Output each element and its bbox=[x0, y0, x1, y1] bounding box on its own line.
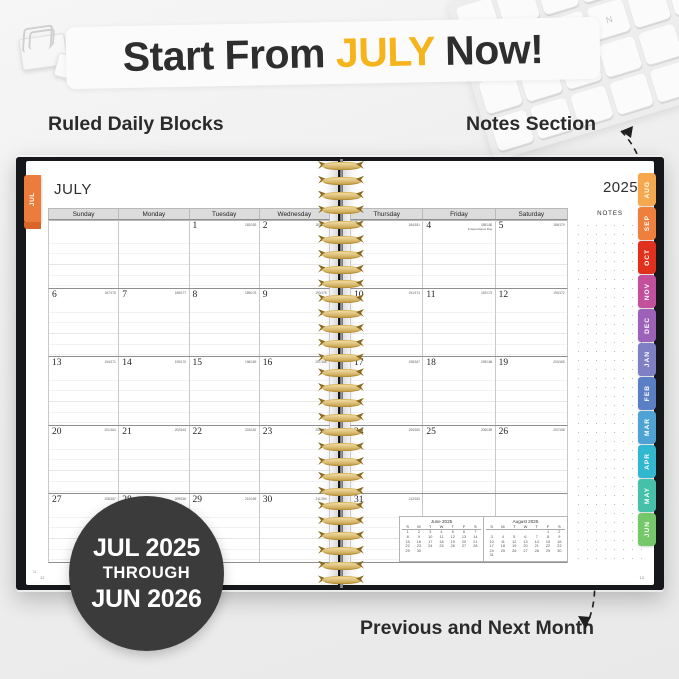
month-tab-label: DEC bbox=[644, 317, 651, 334]
caption-previous-next-month: Previous and Next Month bbox=[360, 617, 594, 640]
spiral-coil bbox=[317, 250, 365, 259]
week-row: 24205/16025206/15926207/158 bbox=[350, 426, 568, 495]
month-tab-jun[interactable]: JUN bbox=[638, 513, 656, 546]
keyboard-key bbox=[598, 35, 643, 78]
month-tab-aug[interactable]: AUG bbox=[638, 173, 656, 206]
day-number: 16 bbox=[263, 358, 273, 368]
day-number: 4 bbox=[426, 221, 431, 231]
day-of-year-count: 210/155 bbox=[245, 497, 256, 501]
spiral-coil bbox=[317, 487, 365, 496]
headline-highlight: JULY bbox=[335, 28, 434, 76]
page-number-left: 12 bbox=[40, 575, 44, 580]
day-cell-12[interactable]: 12193/172 bbox=[496, 289, 567, 357]
day-number: 5 bbox=[499, 221, 504, 231]
holiday-label: Independence Day bbox=[468, 227, 492, 231]
month-tab-label: APR bbox=[644, 453, 651, 470]
mini-calendar-june: June 2025SMTWTFS123456789101112131415161… bbox=[399, 516, 484, 562]
mini-calendar-august: August 2025SMTWTFS1234567891011121314151… bbox=[484, 516, 568, 562]
month-tab-label: SEP bbox=[644, 215, 651, 231]
day-number: 14 bbox=[122, 358, 132, 368]
day-of-year-count: 198/167 bbox=[409, 360, 420, 364]
day-cell-22[interactable]: 22203/162 bbox=[190, 426, 260, 494]
day-cell-1[interactable]: 1182/183 bbox=[190, 220, 260, 288]
day-of-year-count: 196/169 bbox=[245, 360, 256, 364]
spiral-binding bbox=[316, 155, 368, 592]
day-cell-7[interactable]: 7188/177 bbox=[119, 289, 189, 357]
mini-day-empty bbox=[447, 549, 458, 554]
month-tab-apr[interactable]: APR bbox=[638, 445, 656, 478]
day-number: 12 bbox=[499, 290, 509, 300]
day-of-year-count: 184/181 bbox=[409, 223, 420, 227]
day-cell-8[interactable]: 8189/176 bbox=[190, 289, 260, 357]
day-of-year-count: 188/177 bbox=[175, 291, 186, 295]
day-cell-5[interactable]: 5186/179 bbox=[496, 220, 567, 288]
day-cell-14[interactable]: 14195/170 bbox=[119, 357, 189, 425]
day-number: 1 bbox=[193, 221, 198, 231]
day-of-year-count: 201/164 bbox=[105, 428, 116, 432]
badge-line-1: JUL 2025 bbox=[93, 534, 200, 562]
spiral-coil bbox=[317, 501, 365, 510]
day-of-year-count: 191/174 bbox=[409, 291, 420, 295]
week-row: 1182/1832183/182 bbox=[48, 219, 330, 289]
spiral-coil bbox=[317, 324, 365, 333]
day-number: 27 bbox=[52, 495, 62, 505]
ruled-lines bbox=[423, 370, 494, 425]
spiral-coil bbox=[317, 339, 365, 348]
spiral-coil bbox=[317, 383, 365, 392]
day-of-year-count: 207/158 bbox=[553, 428, 564, 432]
spiral-coil bbox=[317, 161, 365, 170]
day-number: 19 bbox=[499, 358, 509, 368]
week-rows-right: 3184/1814185/180Independence Day5186/179… bbox=[350, 219, 568, 563]
mini-week-row: 2930 bbox=[402, 549, 481, 554]
ruled-lines bbox=[423, 302, 494, 357]
spiral-coil bbox=[317, 561, 365, 570]
caption-notes-section: Notes Section bbox=[466, 113, 596, 136]
day-of-year-count: 209/156 bbox=[175, 497, 186, 501]
mini-day-30: 30 bbox=[413, 549, 424, 554]
spiral-coil bbox=[317, 575, 365, 584]
calendar-grid-right: ThursdayFridaySaturday 3184/1814185/180I… bbox=[350, 208, 568, 563]
day-cell-20[interactable]: 20201/164 bbox=[49, 426, 119, 494]
day-number: 26 bbox=[499, 427, 509, 437]
day-number: 13 bbox=[52, 358, 62, 368]
day-of-year-count: 208/157 bbox=[105, 497, 116, 501]
caption-ruled-daily-blocks: Ruled Daily Blocks bbox=[48, 113, 224, 136]
day-number: 6 bbox=[52, 290, 57, 300]
month-tab-label: JUN bbox=[644, 521, 651, 537]
month-tab-oct[interactable]: OCT bbox=[638, 241, 656, 274]
day-number: 20 bbox=[52, 427, 62, 437]
ruled-lines bbox=[496, 439, 567, 494]
keyboard-key bbox=[650, 60, 679, 103]
spiral-coil bbox=[317, 413, 365, 422]
headline-text: Start From JULY Now! bbox=[122, 25, 543, 80]
day-of-year-count: 193/172 bbox=[553, 291, 564, 295]
mini-day-empty bbox=[509, 553, 520, 558]
month-tab-label: OCT bbox=[644, 249, 651, 266]
month-tab-label: JAN bbox=[644, 351, 651, 367]
ruled-lines bbox=[190, 439, 259, 494]
day-of-year-count: 202/163 bbox=[175, 428, 186, 432]
spiral-coil bbox=[317, 353, 365, 362]
day-of-year-count: 203/162 bbox=[245, 428, 256, 432]
mini-calendar-table: SMTWTFS123456789101112131415161718192021… bbox=[402, 525, 481, 554]
ruled-lines bbox=[496, 233, 567, 288]
day-number: 2 bbox=[263, 221, 268, 231]
mini-day-29: 29 bbox=[402, 549, 413, 554]
ruled-lines bbox=[190, 233, 259, 288]
product-photo-scene: HBNM Start From JULY Now! Ruled Daily Bl… bbox=[0, 0, 679, 679]
day-of-year-count: 186/179 bbox=[553, 223, 564, 227]
planner-right-page: 2025 ThursdayFridaySaturday 3184/1814185… bbox=[342, 161, 654, 585]
badge-line-3: JUN 2026 bbox=[91, 585, 201, 613]
day-cell-19[interactable]: 19200/165 bbox=[496, 357, 567, 425]
week-row: 17198/16718199/16619200/165 bbox=[350, 357, 568, 426]
month-tab-label: MAR bbox=[644, 418, 651, 436]
ruled-lines bbox=[423, 439, 494, 494]
day-cell-18[interactable]: 18199/166 bbox=[423, 357, 495, 425]
badge-line-2: THROUGH bbox=[103, 562, 191, 586]
week-row: 13194/17114195/17015196/16916197/168 bbox=[48, 357, 330, 426]
page-mark-left: 11 bbox=[33, 570, 37, 574]
week-row: 6187/1787188/1778189/1769190/175 bbox=[48, 289, 330, 358]
month-tab-sep[interactable]: SEP bbox=[638, 207, 656, 240]
day-of-year-count: 192/173 bbox=[481, 291, 492, 295]
keyboard-key bbox=[638, 23, 679, 66]
day-of-year-count: 185/180 bbox=[481, 223, 492, 227]
spiral-coil bbox=[317, 516, 365, 525]
spiral-coil bbox=[317, 205, 365, 214]
mini-day-empty bbox=[554, 553, 565, 558]
spiral-coil bbox=[317, 427, 365, 436]
spiral-coil bbox=[317, 279, 365, 288]
spiral-coil bbox=[317, 220, 365, 229]
spiral-coil bbox=[317, 191, 365, 200]
day-number: 15 bbox=[193, 358, 203, 368]
day-cell-21[interactable]: 21202/163 bbox=[119, 426, 189, 494]
day-number: 25 bbox=[426, 427, 436, 437]
ruled-lines bbox=[119, 439, 188, 494]
mini-day-empty bbox=[542, 553, 553, 558]
month-tab-label: NOV bbox=[644, 283, 651, 300]
index-tab-jul-label: JUL bbox=[29, 192, 36, 206]
index-tab-jul[interactable]: JUL bbox=[24, 175, 41, 223]
mini-day-empty bbox=[458, 549, 469, 554]
mini-day-empty bbox=[531, 553, 542, 558]
mini-day-empty bbox=[425, 549, 436, 554]
day-of-year-count: 199/166 bbox=[481, 360, 492, 364]
spiral-coil bbox=[317, 531, 365, 540]
month-tab-jan[interactable]: JAN bbox=[638, 343, 656, 376]
month-title: JULY bbox=[54, 181, 92, 198]
day-cell-empty[interactable] bbox=[119, 220, 189, 288]
day-of-year-count: 205/160 bbox=[409, 428, 420, 432]
day-cell-4[interactable]: 4185/180Independence Day bbox=[423, 220, 495, 288]
notes-dot-grid[interactable] bbox=[574, 221, 646, 563]
year-title: 2025 bbox=[603, 179, 638, 196]
day-number: 22 bbox=[193, 427, 203, 437]
ruled-lines bbox=[119, 302, 188, 357]
ruled-lines bbox=[119, 233, 188, 288]
day-number: 9 bbox=[263, 290, 268, 300]
spiral-coil bbox=[317, 309, 365, 318]
mini-day-31: 31 bbox=[486, 553, 497, 558]
spiral-coil bbox=[317, 294, 365, 303]
week-row: 10191/17411192/17312193/172 bbox=[350, 289, 568, 358]
day-of-year-count: 182/183 bbox=[245, 223, 256, 227]
notes-header: NOTES bbox=[574, 208, 646, 219]
mini-calendars: June 2025SMTWTFS123456789101112131415161… bbox=[399, 516, 568, 562]
day-of-year-count: 200/165 bbox=[553, 360, 564, 364]
month-tab-dec[interactable]: DEC bbox=[638, 309, 656, 342]
day-cell-11[interactable]: 11192/173 bbox=[423, 289, 495, 357]
ruled-lines bbox=[49, 439, 118, 494]
day-cell-15[interactable]: 15196/169 bbox=[190, 357, 260, 425]
ruled-lines bbox=[423, 233, 494, 288]
month-tab-nov[interactable]: NOV bbox=[638, 275, 656, 308]
mini-day-empty bbox=[470, 549, 481, 554]
ruled-lines bbox=[119, 370, 188, 425]
day-cell-25[interactable]: 25206/159 bbox=[423, 426, 495, 494]
spiral-coil bbox=[317, 235, 365, 244]
day-cell-26[interactable]: 26207/158 bbox=[496, 426, 567, 494]
spiral-coil bbox=[317, 176, 365, 185]
day-of-year-count: 189/176 bbox=[245, 291, 256, 295]
day-cell-13[interactable]: 13194/171 bbox=[49, 357, 119, 425]
ruled-lines bbox=[190, 302, 259, 357]
keyboard-key bbox=[610, 73, 655, 116]
mini-day-empty bbox=[436, 549, 447, 554]
spiral-coil bbox=[317, 265, 365, 274]
week-row: 20201/16421202/16322203/16223204/161 bbox=[48, 426, 330, 495]
day-number: 18 bbox=[426, 358, 436, 368]
spiral-coil bbox=[317, 472, 365, 481]
day-number: 11 bbox=[426, 290, 435, 300]
spiral-coil bbox=[317, 442, 365, 451]
day-of-year-count: 194/171 bbox=[105, 360, 116, 364]
mini-calendar-title: June 2025 bbox=[402, 519, 481, 524]
spiral-coil bbox=[317, 457, 365, 466]
ruled-lines bbox=[49, 370, 118, 425]
mini-week-row: 31 bbox=[486, 553, 565, 558]
month-tab-may[interactable]: MAY bbox=[638, 479, 656, 512]
day-number: 8 bbox=[193, 290, 198, 300]
page-number-right: 13 bbox=[640, 575, 644, 580]
month-tab-mar[interactable]: MAR bbox=[638, 411, 656, 444]
month-index-tabs: AUGSEPOCTNOVDECJANFEBMARAPRMAYJUN bbox=[638, 173, 656, 547]
day-number: 7 bbox=[122, 290, 127, 300]
month-tab-label: FEB bbox=[644, 385, 651, 401]
month-tab-feb[interactable]: FEB bbox=[638, 377, 656, 410]
day-of-year-count: 206/159 bbox=[481, 428, 492, 432]
day-of-year-count: 195/170 bbox=[175, 360, 186, 364]
mini-day-empty bbox=[520, 553, 531, 558]
ruled-lines bbox=[49, 233, 118, 288]
headline-before: Start From bbox=[122, 29, 336, 79]
arrowhead-notes bbox=[621, 126, 633, 138]
mini-calendar-table: SMTWTFS123456789101112131415161718192021… bbox=[486, 525, 565, 558]
ruled-lines bbox=[49, 302, 118, 357]
ruled-lines bbox=[190, 370, 259, 425]
day-cell-empty[interactable] bbox=[49, 220, 119, 288]
ruled-lines bbox=[496, 302, 567, 357]
mini-calendar-title: August 2025 bbox=[486, 519, 565, 524]
notes-panel[interactable]: NOTES bbox=[574, 208, 646, 563]
date-range-badge: JUL 2025 THROUGH JUN 2026 bbox=[69, 496, 224, 651]
month-tab-label: AUG bbox=[644, 181, 651, 199]
day-cell-6[interactable]: 6187/178 bbox=[49, 289, 119, 357]
day-number: 29 bbox=[193, 495, 203, 505]
day-of-year-count: 212/153 bbox=[409, 497, 420, 501]
day-number: 23 bbox=[263, 427, 273, 437]
spiral-coil bbox=[317, 368, 365, 377]
spiral-coil bbox=[317, 546, 365, 555]
spiral-coil bbox=[317, 398, 365, 407]
mini-day-empty bbox=[497, 553, 508, 558]
week-row: 3184/1814185/180Independence Day5186/179 bbox=[350, 219, 568, 289]
headline-after: Now! bbox=[434, 25, 544, 73]
day-of-year-count: 187/178 bbox=[105, 291, 116, 295]
headline-banner: Start From JULY Now! bbox=[65, 17, 600, 89]
day-number: 21 bbox=[122, 427, 132, 437]
month-tab-label: MAY bbox=[644, 487, 651, 504]
ruled-lines bbox=[496, 370, 567, 425]
day-number: 30 bbox=[263, 495, 273, 505]
